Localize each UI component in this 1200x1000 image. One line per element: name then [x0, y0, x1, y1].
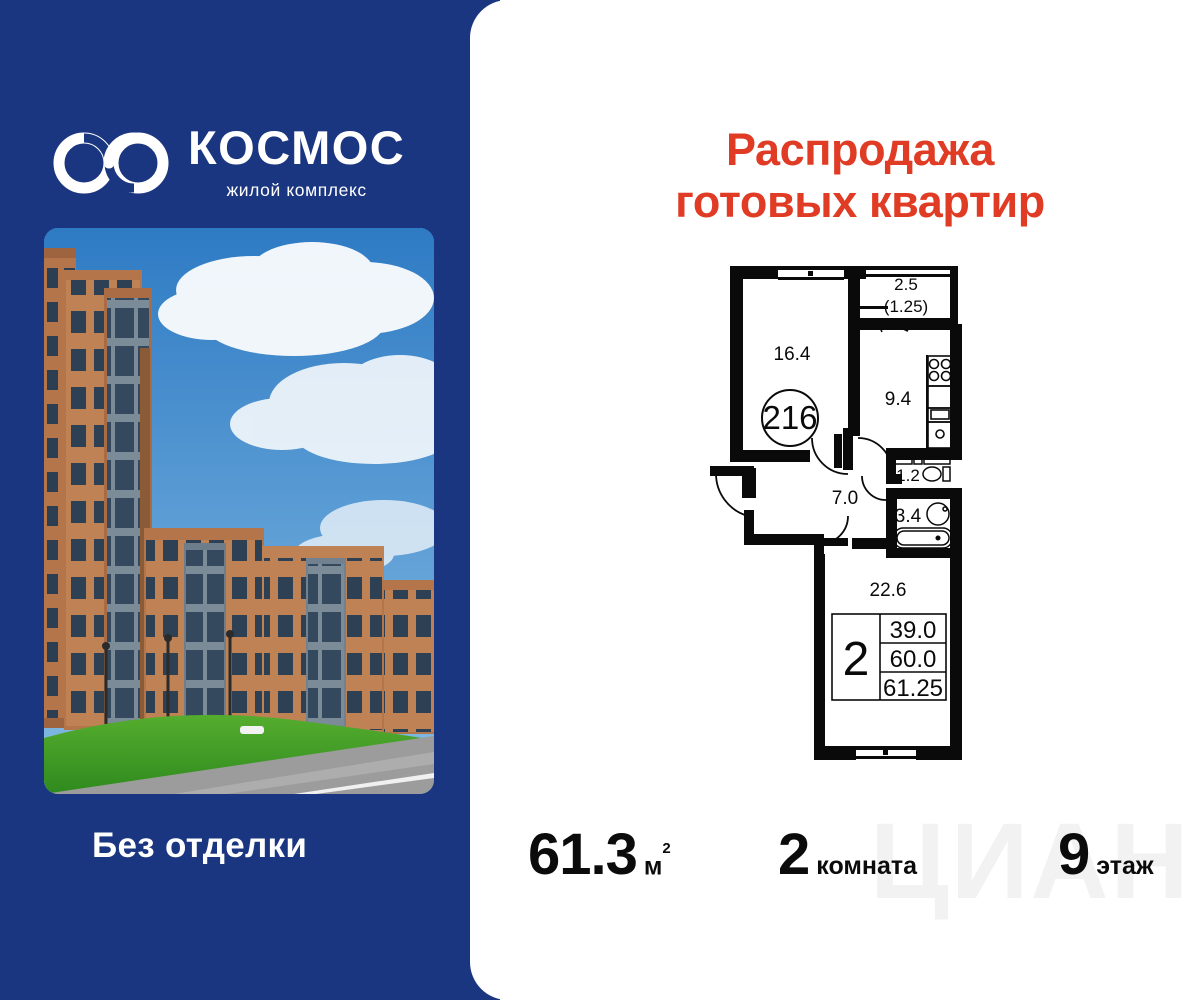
floor-value: 9: [1058, 826, 1089, 884]
stat-rooms: 2 комната: [778, 826, 917, 884]
apartment-number: 216: [762, 399, 817, 436]
floor-plan: 216 16.4 2.5 (1.25) 9.4 7.0 1.2 3.4 22.6: [700, 262, 970, 792]
svg-text:9.4: 9.4: [885, 389, 912, 410]
brand-logo: КОСМОС жилой комплекс: [52, 124, 405, 201]
rooms-label: комната: [816, 854, 917, 879]
page-title: Распродажа готовых квартир: [600, 124, 1120, 228]
svg-text:60.0: 60.0: [890, 646, 937, 673]
brand-wordmark: КОСМОС жилой комплекс: [188, 124, 405, 201]
brand-subtitle: жилой комплекс: [226, 180, 366, 201]
rooms-value: 2: [778, 826, 809, 884]
area-value: 61.3: [528, 826, 637, 884]
svg-text:2: 2: [843, 633, 870, 686]
area-unit: м2: [644, 853, 671, 879]
building-photo: [44, 228, 434, 794]
headline-line-2: готовых квартир: [600, 176, 1120, 228]
finish-label: Без отделки: [92, 826, 307, 866]
listing-card: КОСМОС жилой комплекс: [0, 0, 1200, 1000]
svg-text:3.4: 3.4: [895, 506, 922, 527]
summary-bar: ЦИАН 61.3 м2 2 комната 9 этаж: [500, 812, 1190, 904]
svg-text:22.6: 22.6: [870, 580, 907, 601]
brand-title: КОСМОС: [188, 124, 405, 171]
svg-text:2.5: 2.5: [894, 275, 918, 294]
floor-label: этаж: [1096, 854, 1153, 879]
stat-area: 61.3 м2: [528, 826, 671, 884]
svg-text:39.0: 39.0: [890, 617, 937, 644]
stat-floor: 9 этаж: [1058, 826, 1154, 884]
headline-line-1: Распродажа: [726, 124, 994, 175]
svg-text:(1.25): (1.25): [884, 297, 928, 316]
svg-text:16.4: 16.4: [774, 344, 811, 365]
infinity-icon: [52, 132, 170, 194]
svg-text:1.2: 1.2: [896, 466, 920, 485]
svg-text:7.0: 7.0: [832, 488, 858, 509]
svg-text:61.25: 61.25: [883, 675, 943, 702]
